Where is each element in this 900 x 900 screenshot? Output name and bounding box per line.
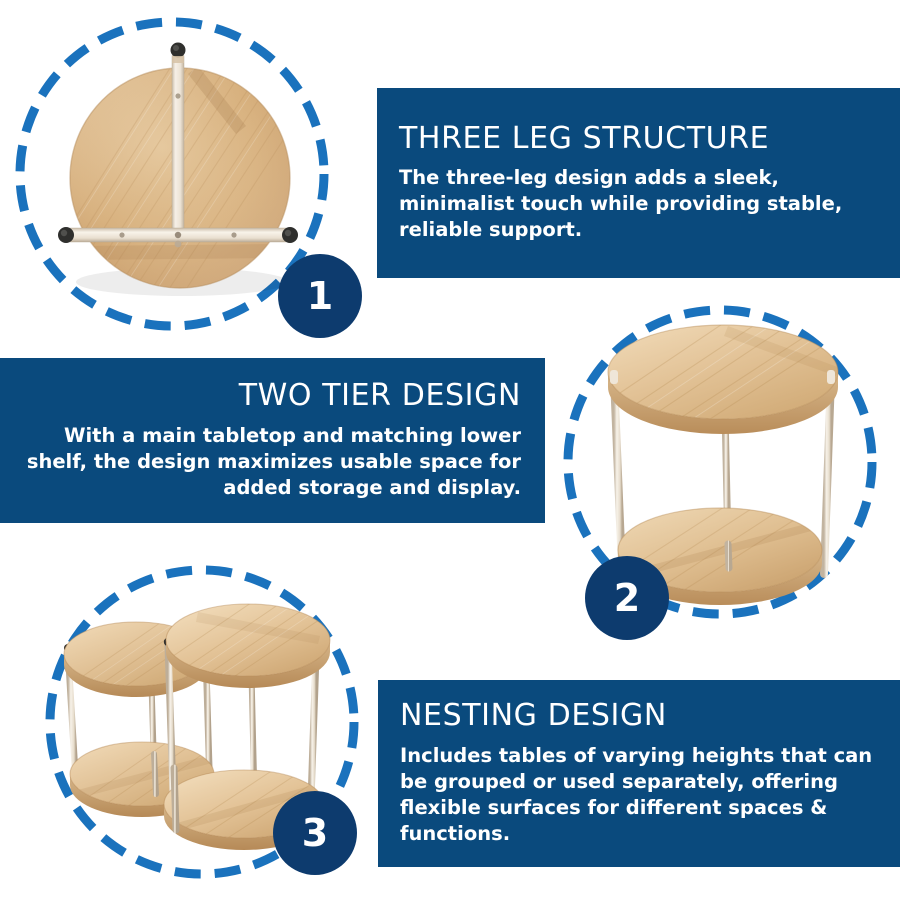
section-title-2: TWO TIER DESIGN xyxy=(10,380,521,412)
section-title-1: THREE LEG STRUCTURE xyxy=(399,123,878,155)
section-panel-2: TWO TIER DESIGN With a main tabletop and… xyxy=(0,358,545,523)
step-number-badge-1: 1 xyxy=(278,254,362,338)
section-body-2: With a main tabletop and matching lower … xyxy=(10,423,521,501)
section-panel-1: THREE LEG STRUCTURE The three-leg design… xyxy=(377,88,900,278)
product-image-three-leg-top-view xyxy=(48,30,328,310)
step-number-badge-2: 2 xyxy=(585,556,669,640)
section-title-3: NESTING DESIGN xyxy=(400,700,878,732)
section-panel-3: NESTING DESIGN Includes tables of varyin… xyxy=(378,680,900,867)
section-body-3: Includes tables of varying heights that … xyxy=(400,743,878,847)
badge-number-1: 1 xyxy=(307,277,333,315)
section-body-1: The three-leg design adds a sleek, minim… xyxy=(399,165,878,243)
badge-number-2: 2 xyxy=(614,579,640,617)
infographic-canvas: 1 THREE LEG STRUCTURE The three-leg desi… xyxy=(0,0,900,900)
badge-number-3: 3 xyxy=(302,814,328,852)
step-number-badge-3: 3 xyxy=(273,791,357,875)
